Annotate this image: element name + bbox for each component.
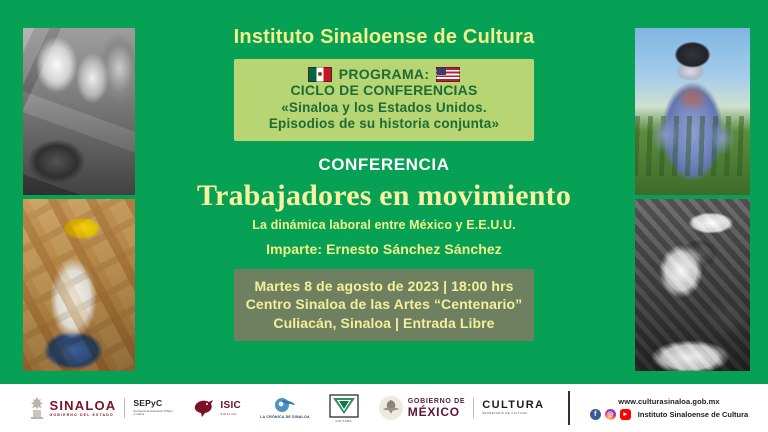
logo-divider <box>124 398 125 418</box>
logo-isic: ISIC SINALOA <box>192 397 241 419</box>
photo-harvest-bw <box>632 196 753 374</box>
program-line-4: Episodios de su historia conjunta» <box>240 116 528 133</box>
conference-kicker: CONFERENCIA <box>140 155 628 175</box>
program-label: PROGRAMA: <box>339 66 430 82</box>
venue-city-admission: Culiacán, Sinaloa | Entrada Libre <box>240 314 528 332</box>
venue-place: Centro Sinaloa de las Artes “Centenario” <box>240 295 528 313</box>
logo-cronica-sinaloa: LA CRÓNICA DE SINALOA <box>260 397 310 419</box>
social-handle: Instituto Sinaloense de Cultura <box>638 410 748 419</box>
isic-wordmark: ISIC <box>220 401 241 411</box>
mexico-eagle-emblem-icon <box>378 395 404 421</box>
isic-tagline: SINALOA <box>220 413 241 416</box>
gob-divider <box>473 398 474 418</box>
footer-bar: SINALOA GOBIERNO DEL ESTADO SEPyC Secret… <box>0 384 768 432</box>
photo-field-worker-blue-image <box>635 28 750 195</box>
photo-field-worker-blue <box>632 25 753 198</box>
conference-title: Trabajadores en movimiento <box>140 181 628 211</box>
sinaloa-wordmark: SINALOA <box>50 399 117 412</box>
photo-construction-worker-image <box>23 199 135 371</box>
organization-title: Instituto Sinaloense de Cultura <box>140 27 628 47</box>
sepyc-wordmark: SEPyC <box>133 399 173 408</box>
event-poster: Instituto Sinaloense de Cultura PROGRAMA… <box>0 0 768 432</box>
usa-flag-icon <box>436 67 460 82</box>
sinaloa-tagline: GOBIERNO DEL ESTADO <box>50 414 117 418</box>
cronica-tagline: LA CRÓNICA DE SINALOA <box>260 415 310 419</box>
photo-braceros-bw-image <box>23 28 135 195</box>
mexico-flag-icon <box>308 67 332 82</box>
program-box: PROGRAMA: CICLO DE CONFERENCIAS «Sinaloa… <box>234 59 534 141</box>
youtube-icon[interactable]: ▸ <box>620 409 631 420</box>
program-line-3: «Sinaloa y los Estados Unidos. <box>240 100 528 117</box>
program-header-row: PROGRAMA: <box>240 66 528 82</box>
logo-conaculta: CULTURA <box>329 394 359 423</box>
cronica-swirl-icon <box>274 397 296 413</box>
website-url[interactable]: www.culturasinaloa.gob.mx <box>618 397 719 406</box>
logo-gobierno-mexico: GOBIERNO DE MÉXICO CULTURA SECRETARÍA DE… <box>378 395 545 421</box>
photo-construction-worker <box>20 196 138 374</box>
cultura-wordmark: CULTURA <box>482 400 544 411</box>
instagram-icon[interactable]: ◎ <box>605 409 616 420</box>
photo-braceros-bw <box>20 25 138 198</box>
conference-subtitle: La dinámica laboral entre México y E.E.U… <box>140 218 628 232</box>
footer-social-block: www.culturasinaloa.gob.mx f ◎ ▸ Institut… <box>570 397 768 420</box>
conference-speaker: Imparte: Ernesto Sánchez Sánchez <box>140 241 628 257</box>
program-line-2: CICLO DE CONFERENCIAS <box>240 82 528 100</box>
conaculta-emblem-icon <box>329 394 359 418</box>
social-links-row: f ◎ ▸ Instituto Sinaloense de Cultura <box>590 409 748 420</box>
logo-sinaloa: SINALOA GOBIERNO DEL ESTADO SEPyC Secret… <box>28 396 174 420</box>
isic-bird-icon <box>192 397 216 419</box>
venue-date-time: Martes 8 de agosto de 2023 | 18:00 hrs <box>240 277 528 295</box>
venue-box: Martes 8 de agosto de 2023 | 18:00 hrs C… <box>234 269 534 341</box>
sinaloa-emblem-icon <box>28 396 46 420</box>
photo-harvest-bw-image <box>635 199 750 371</box>
mexico-wordmark: MÉXICO <box>408 406 465 418</box>
gobierno-label: GOBIERNO DE <box>408 398 465 405</box>
facebook-icon[interactable]: f <box>590 409 601 420</box>
poster-center-column: Instituto Sinaloense de Cultura PROGRAMA… <box>140 0 628 378</box>
conaculta-tagline: CULTURA <box>336 419 353 423</box>
footer-logo-strip: SINALOA GOBIERNO DEL ESTADO SEPyC Secret… <box>0 384 568 432</box>
cultura-tagline: SECRETARÍA DE CULTURA <box>482 413 544 416</box>
sepyc-tagline: Secretaría de Educación Pública y Cultur… <box>133 410 173 417</box>
